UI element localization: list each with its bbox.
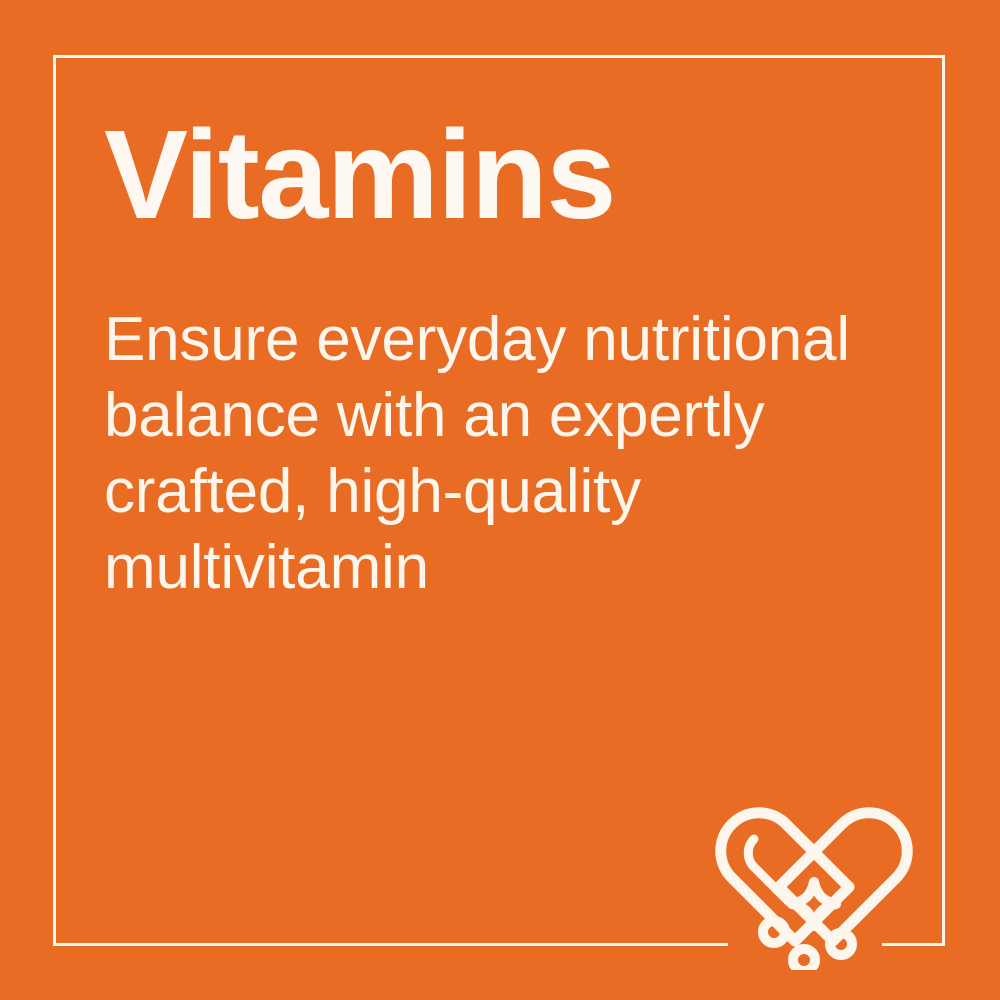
vitamins-product-card: Vitamins Ensure everyday nutritional bal…: [0, 0, 1000, 1000]
dot-1: [763, 921, 785, 943]
sparkle-icon: [792, 882, 836, 926]
capsule-left-inner-arc: [748, 839, 789, 902]
frame-bottom-left-edge: [53, 943, 728, 946]
page-title: Vitamins: [104, 112, 914, 238]
crossed-capsules-svg: [694, 798, 934, 970]
text-block: Vitamins Ensure everyday nutritional bal…: [104, 112, 914, 606]
frame-left-edge: [53, 55, 56, 946]
crossed-capsules-icon: [694, 798, 934, 970]
dot-3: [793, 949, 815, 970]
description-text: Ensure everyday nutritional balance with…: [104, 238, 904, 606]
frame-top-edge: [53, 55, 945, 58]
dot-2: [830, 933, 852, 955]
frame-right-edge: [942, 55, 945, 946]
